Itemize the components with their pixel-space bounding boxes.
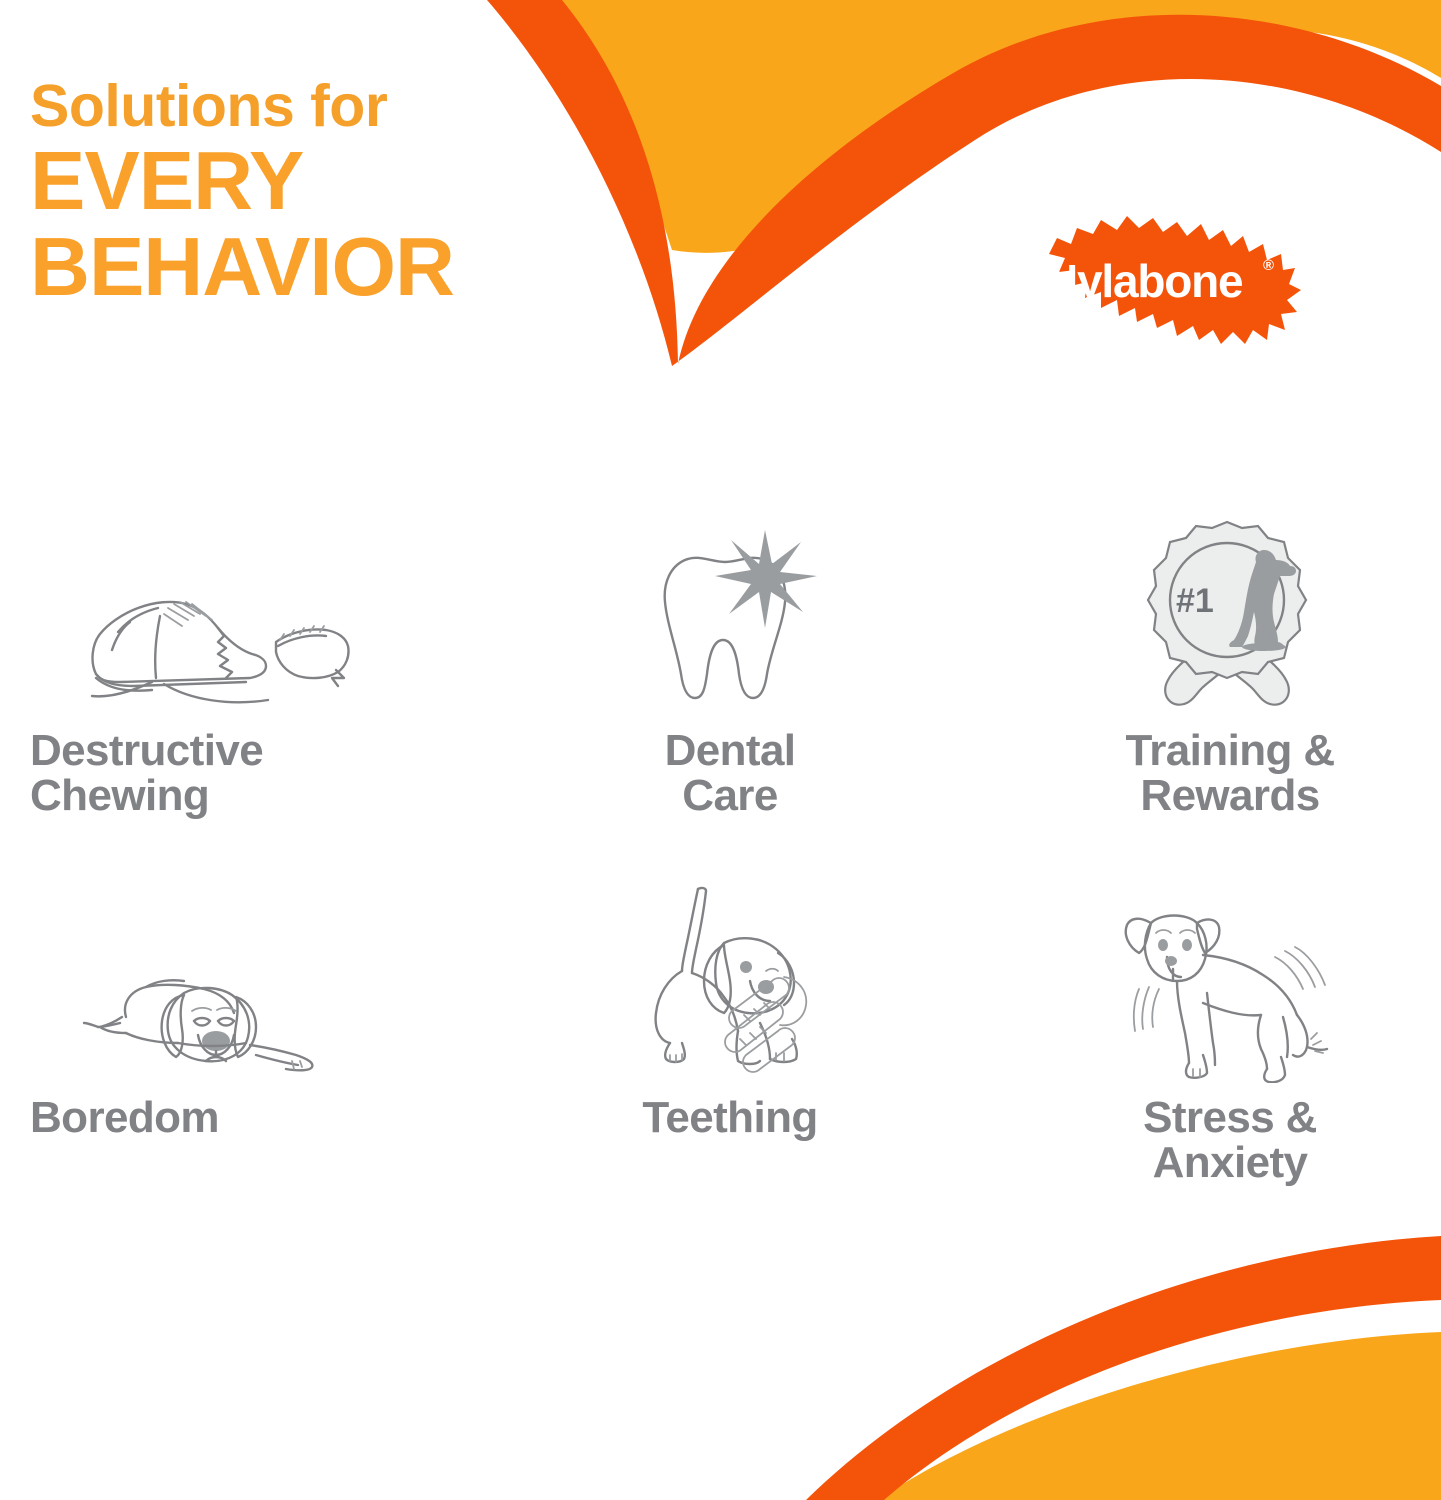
behavior-label-line-2: Anxiety <box>1143 1140 1317 1185</box>
page-title: Solutions for EVERY BEHAVIOR <box>30 76 590 311</box>
behavior-grid-row: Destructive Chewing Dental Care <box>0 520 1441 819</box>
behavior-item-stress-anxiety: Stress & Anxiety <box>960 887 1440 1186</box>
behavior-label-line-2: Chewing <box>30 773 390 818</box>
behavior-item-dental-care: Dental Care <box>480 520 960 819</box>
behavior-label: Stress & Anxiety <box>1143 1095 1317 1186</box>
behavior-item-boredom: Boredom <box>0 887 480 1186</box>
behavior-item-destructive-chewing: Destructive Chewing <box>0 520 480 819</box>
headline-line-1: Solutions for <box>30 76 590 136</box>
behavior-label-line-1: Training & <box>1125 728 1334 773</box>
bottom-swoosh-light-shape <box>878 1332 1441 1500</box>
headline-line-3: BEHAVIOR <box>30 224 590 310</box>
chewed-shoe-icon <box>30 520 390 716</box>
bored-lying-dog-icon <box>30 887 390 1083</box>
badge-rank-text: #1 <box>1176 582 1214 620</box>
anxious-shaking-dog-icon <box>1115 887 1345 1083</box>
behavior-label-line-1: Dental <box>665 728 796 773</box>
behavior-item-training-rewards: #1 Training & Rewards <box>960 520 1440 819</box>
award-rosette-icon: #1 <box>1130 520 1330 716</box>
headline-line-2: EVERY <box>30 138 590 224</box>
behavior-label-line-1: Stress & <box>1143 1095 1317 1140</box>
behavior-label-line-2: Rewards <box>1125 773 1334 818</box>
behavior-label-line-1: Destructive <box>30 728 390 773</box>
behavior-label-line-2: Care <box>665 773 796 818</box>
behavior-label: Dental Care <box>665 728 796 819</box>
behavior-grid-row: Boredom <box>0 887 1441 1186</box>
logo-wordmark: Nylabone <box>1045 255 1243 307</box>
behavior-grid: Destructive Chewing Dental Care <box>0 520 1441 1185</box>
sparkling-tooth-icon <box>635 520 825 716</box>
puppy-chewing-toy-icon <box>620 887 840 1083</box>
logo-registered-trademark-icon: ® <box>1263 257 1274 274</box>
bottom-swoosh-dark-shape <box>806 1236 1441 1500</box>
behavior-label: Teething <box>642 1095 817 1140</box>
behavior-label-line-1: Boredom <box>30 1095 390 1140</box>
infographic-canvas: Solutions for EVERY BEHAVIOR Nylabone ® <box>0 0 1441 1500</box>
nylabone-logo: Nylabone ® <box>1005 196 1315 366</box>
behavior-label: Boredom <box>30 1095 390 1140</box>
behavior-item-teething: Teething <box>480 887 960 1186</box>
behavior-label: Destructive Chewing <box>30 728 390 819</box>
behavior-label-line-1: Teething <box>642 1095 817 1140</box>
behavior-label: Training & Rewards <box>1125 728 1334 819</box>
